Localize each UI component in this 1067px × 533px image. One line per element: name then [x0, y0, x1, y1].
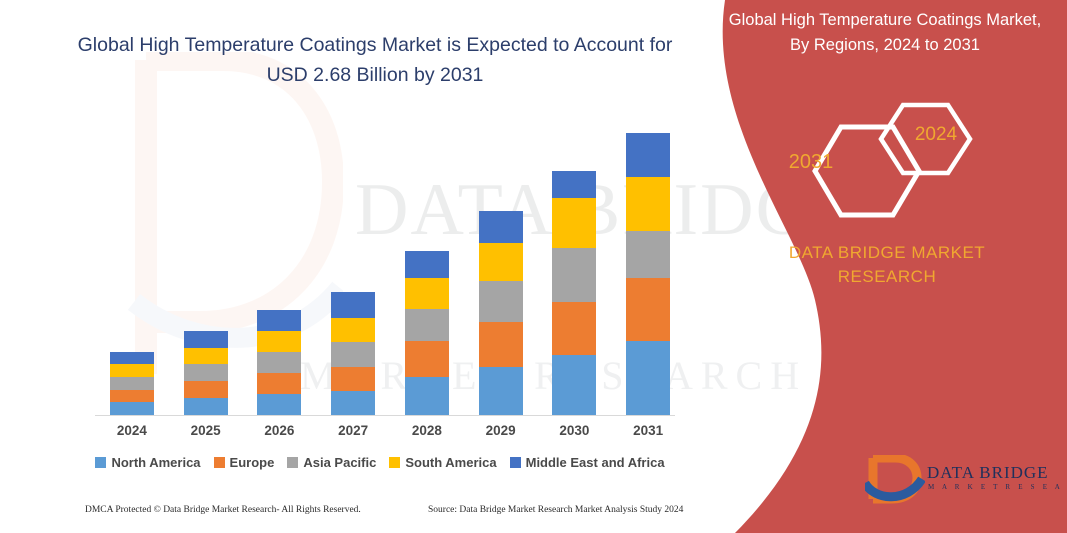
bar-segment[interactable] — [405, 341, 449, 377]
x-axis-label-2026: 2026 — [244, 423, 314, 438]
bar-segment[interactable] — [257, 310, 301, 331]
data-bridge-logo: DATA BRIDGE M A R K E T R E S E A R C H — [865, 455, 1055, 510]
bar-2029[interactable] — [479, 211, 523, 415]
bar-segment[interactable] — [257, 373, 301, 394]
bar-segment[interactable] — [405, 377, 449, 415]
logo-mark-icon — [865, 455, 925, 507]
bar-segment[interactable] — [331, 342, 375, 366]
bar-segment[interactable] — [626, 341, 670, 415]
bar-segment[interactable] — [626, 278, 670, 341]
legend-label: South America — [405, 455, 496, 470]
bar-segment[interactable] — [479, 211, 523, 244]
legend-label: Europe — [230, 455, 275, 470]
bar-2030[interactable] — [552, 171, 596, 415]
legend-label: Asia Pacific — [303, 455, 376, 470]
red-side-panel — [707, 0, 1067, 533]
legend-item-asia-pacific[interactable]: Asia Pacific — [287, 455, 376, 470]
x-axis-label-2030: 2030 — [539, 423, 609, 438]
x-axis-labels: 20242025202620272028202920302031 — [95, 423, 685, 445]
bar-segment[interactable] — [552, 302, 596, 355]
bar-2031[interactable] — [626, 133, 670, 415]
bar-segment[interactable] — [626, 231, 670, 278]
footer-copyright: DMCA Protected © Data Bridge Market Rese… — [85, 505, 361, 515]
bar-2026[interactable] — [257, 310, 301, 415]
legend-swatch-icon — [214, 457, 225, 468]
legend-label: North America — [111, 455, 200, 470]
bar-2027[interactable] — [331, 292, 375, 415]
x-axis-label-2024: 2024 — [97, 423, 167, 438]
footer-source: Source: Data Bridge Market Research Mark… — [428, 505, 683, 515]
bar-segment[interactable] — [479, 367, 523, 415]
bar-segment[interactable] — [552, 248, 596, 303]
bar-2028[interactable] — [405, 251, 449, 415]
x-axis-label-2028: 2028 — [392, 423, 462, 438]
bar-2025[interactable] — [184, 331, 228, 415]
bar-2024[interactable] — [110, 352, 154, 415]
bar-segment[interactable] — [184, 398, 228, 415]
bar-segment[interactable] — [331, 318, 375, 342]
bar-segment[interactable] — [331, 391, 375, 415]
x-axis-label-2031: 2031 — [613, 423, 683, 438]
legend-swatch-icon — [287, 457, 298, 468]
bar-segment[interactable] — [479, 281, 523, 322]
bar-segment[interactable] — [110, 352, 154, 365]
bar-segment[interactable] — [184, 331, 228, 348]
bar-segment[interactable] — [110, 364, 154, 377]
chart-title: Global High Temperature Coatings Market … — [70, 30, 680, 90]
bar-segment[interactable] — [184, 348, 228, 365]
legend-item-europe[interactable]: Europe — [214, 455, 275, 470]
bar-segment[interactable] — [405, 278, 449, 309]
red-panel-shape — [707, 0, 1067, 533]
legend-swatch-icon — [389, 457, 400, 468]
bar-segment[interactable] — [626, 133, 670, 177]
x-axis-label-2025: 2025 — [171, 423, 241, 438]
bar-segment[interactable] — [405, 309, 449, 342]
bar-segment[interactable] — [257, 352, 301, 373]
bar-segment[interactable] — [479, 243, 523, 281]
bar-segment[interactable] — [184, 381, 228, 398]
x-axis-label-2027: 2027 — [318, 423, 388, 438]
bar-segment[interactable] — [552, 355, 596, 415]
logo-text-main: DATA BRIDGE — [927, 463, 1049, 483]
bar-segment[interactable] — [331, 367, 375, 391]
bar-segment[interactable] — [405, 251, 449, 278]
legend-swatch-icon — [510, 457, 521, 468]
legend-item-south-america[interactable]: South America — [389, 455, 496, 470]
bar-segment[interactable] — [110, 390, 154, 403]
bar-segment[interactable] — [479, 322, 523, 366]
chart-legend: North AmericaEuropeAsia PacificSouth Ame… — [0, 455, 760, 470]
logo-text-sub: M A R K E T R E S E A R C H — [928, 483, 1067, 491]
legend-item-middle-east-and-africa[interactable]: Middle East and Africa — [510, 455, 665, 470]
bar-segment[interactable] — [552, 198, 596, 248]
bar-segment[interactable] — [257, 331, 301, 352]
legend-item-north-america[interactable]: North America — [95, 455, 200, 470]
x-axis-line — [95, 415, 675, 416]
stacked-bar-chart — [95, 120, 685, 415]
x-axis-label-2029: 2029 — [466, 423, 536, 438]
bar-segment[interactable] — [110, 402, 154, 415]
legend-label: Middle East and Africa — [526, 455, 665, 470]
chart-panel: DATA BRIDGE MARKET RESEARCH Global High … — [0, 0, 760, 533]
bar-segment[interactable] — [257, 394, 301, 415]
bar-segment[interactable] — [626, 177, 670, 231]
legend-swatch-icon — [95, 457, 106, 468]
bar-segment[interactable] — [110, 377, 154, 390]
bar-segment[interactable] — [331, 292, 375, 318]
bar-segment[interactable] — [184, 364, 228, 381]
bar-segment[interactable] — [552, 171, 596, 198]
